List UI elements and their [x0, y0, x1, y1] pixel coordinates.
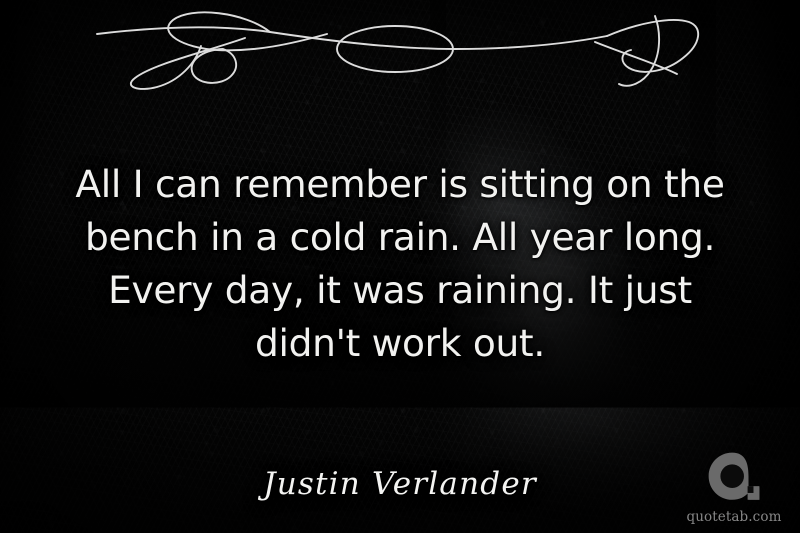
- quote-image-card: All I can remember is sitting on the ben…: [0, 0, 800, 533]
- site-watermark[interactable]: quotetab.com: [686, 449, 782, 525]
- quotetab-q-logo-icon: [705, 449, 763, 507]
- watermark-site-label: quotetab.com: [687, 509, 782, 525]
- quote-text: All I can remember is sitting on the ben…: [58, 158, 742, 370]
- quote-author: Justin Verlander: [0, 466, 800, 502]
